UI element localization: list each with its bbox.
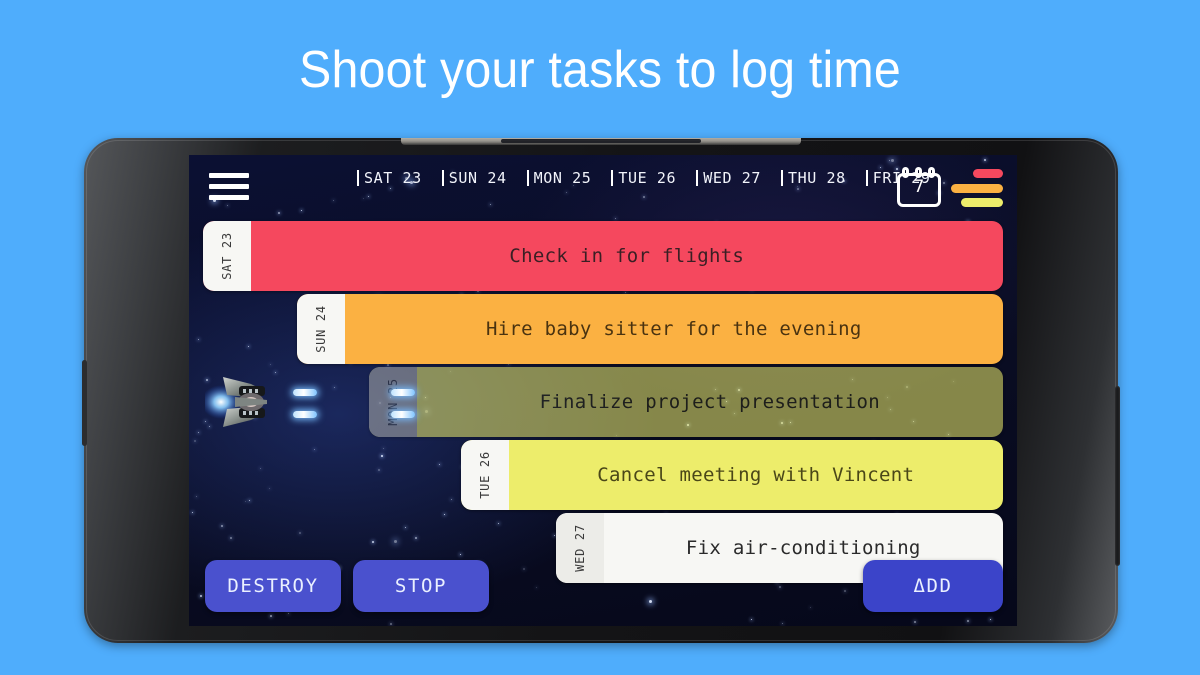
task-day-tab: SUN 24 <box>297 294 345 364</box>
phone-power-button[interactable] <box>1115 386 1120 566</box>
day-ruler: SAT 23SUN 24MON 25TUE 26WED 27THU 28FRI … <box>357 165 931 191</box>
task-day-tab: TUE 26 <box>461 440 509 510</box>
day-tick-tue-26[interactable]: TUE 26 <box>611 169 676 187</box>
day-tick-sat-23[interactable]: SAT 23 <box>357 169 422 187</box>
day-tick-label: MON 25 <box>534 169 592 187</box>
app-top-bar: SAT 23SUN 24MON 25TUE 26WED 27THU 28FRI … <box>189 155 1017 217</box>
action-bar: DESTROY STOP ΔDD <box>189 560 1017 612</box>
task-row: SAT 23Check in for flights <box>189 221 1017 291</box>
phone-earpiece-slot <box>501 139 701 143</box>
star <box>615 218 616 219</box>
task-day-tab: SAT 23 <box>203 221 251 291</box>
day-tick-mon-25[interactable]: MON 25 <box>527 169 592 187</box>
phone-earpiece-speaker <box>401 138 801 145</box>
add-button[interactable]: ΔDD <box>863 560 1003 612</box>
star <box>782 623 783 624</box>
legend-bars[interactable] <box>951 169 1003 207</box>
task-day-label: TUE 26 <box>478 451 492 499</box>
task-title: Finalize project presentation <box>417 391 1003 413</box>
task-title: Cancel meeting with Vincent <box>509 464 1003 486</box>
day-tick-label: SAT 23 <box>364 169 422 187</box>
laser-bolt <box>293 389 317 396</box>
task-row: SUN 24Hire baby sitter for the evening <box>189 294 1017 364</box>
star <box>914 621 916 623</box>
star <box>751 619 752 620</box>
day-tick-label: TUE 26 <box>618 169 676 187</box>
laser-bolt <box>293 411 317 418</box>
app-screen: SAT 23SUN 24MON 25TUE 26WED 27THU 28FRI … <box>189 155 1017 626</box>
star <box>288 613 289 614</box>
day-tick-label: WED 27 <box>703 169 761 187</box>
day-tick-wed-27[interactable]: WED 27 <box>696 169 761 187</box>
task-day-label: SAT 23 <box>220 232 234 280</box>
day-tick-thu-28[interactable]: THU 28 <box>781 169 846 187</box>
task-title: Fix air-conditioning <box>604 537 1003 559</box>
laser-bolt <box>391 411 415 418</box>
page-title: Shoot your tasks to log time <box>42 40 1158 100</box>
day-tick-label: THU 28 <box>788 169 846 187</box>
star <box>270 615 272 617</box>
task-bar[interactable]: MON 25Finalize project presentation <box>369 367 1003 437</box>
star <box>390 623 392 625</box>
calendar-icon[interactable]: 7 <box>897 167 941 207</box>
calendar-day-number: 7 <box>897 177 941 197</box>
laser-bolt <box>391 389 415 396</box>
task-row: TUE 26Cancel meeting with Vincent <box>189 440 1017 510</box>
spaceship-sprite <box>205 367 435 437</box>
legend-pill-yellow[interactable] <box>961 198 1003 207</box>
legend-pill-red[interactable] <box>973 169 1003 178</box>
day-tick-sun-24[interactable]: SUN 24 <box>442 169 507 187</box>
star <box>967 620 969 622</box>
hamburger-menu-icon[interactable] <box>209 173 249 200</box>
day-tick-label: SUN 24 <box>449 169 507 187</box>
spaceship-svg <box>205 367 435 437</box>
stop-button[interactable]: STOP <box>353 560 489 612</box>
task-title: Check in for flights <box>251 245 1003 267</box>
task-bar[interactable]: TUE 26Cancel meeting with Vincent <box>461 440 1003 510</box>
promo-screenshot: Shoot your tasks to log time <box>0 0 1200 675</box>
task-bar[interactable]: SAT 23Check in for flights <box>203 221 1003 291</box>
phone-volume-button[interactable] <box>82 360 87 446</box>
destroy-button[interactable]: DESTROY <box>205 560 341 612</box>
task-day-label: SUN 24 <box>314 305 328 353</box>
phone-device-frame: SAT 23SUN 24MON 25TUE 26WED 27THU 28FRI … <box>84 138 1118 643</box>
task-title: Hire baby sitter for the evening <box>345 318 1003 340</box>
legend-pill-orange[interactable] <box>951 184 1003 193</box>
task-bar[interactable]: SUN 24Hire baby sitter for the evening <box>297 294 1003 364</box>
star <box>990 619 991 620</box>
